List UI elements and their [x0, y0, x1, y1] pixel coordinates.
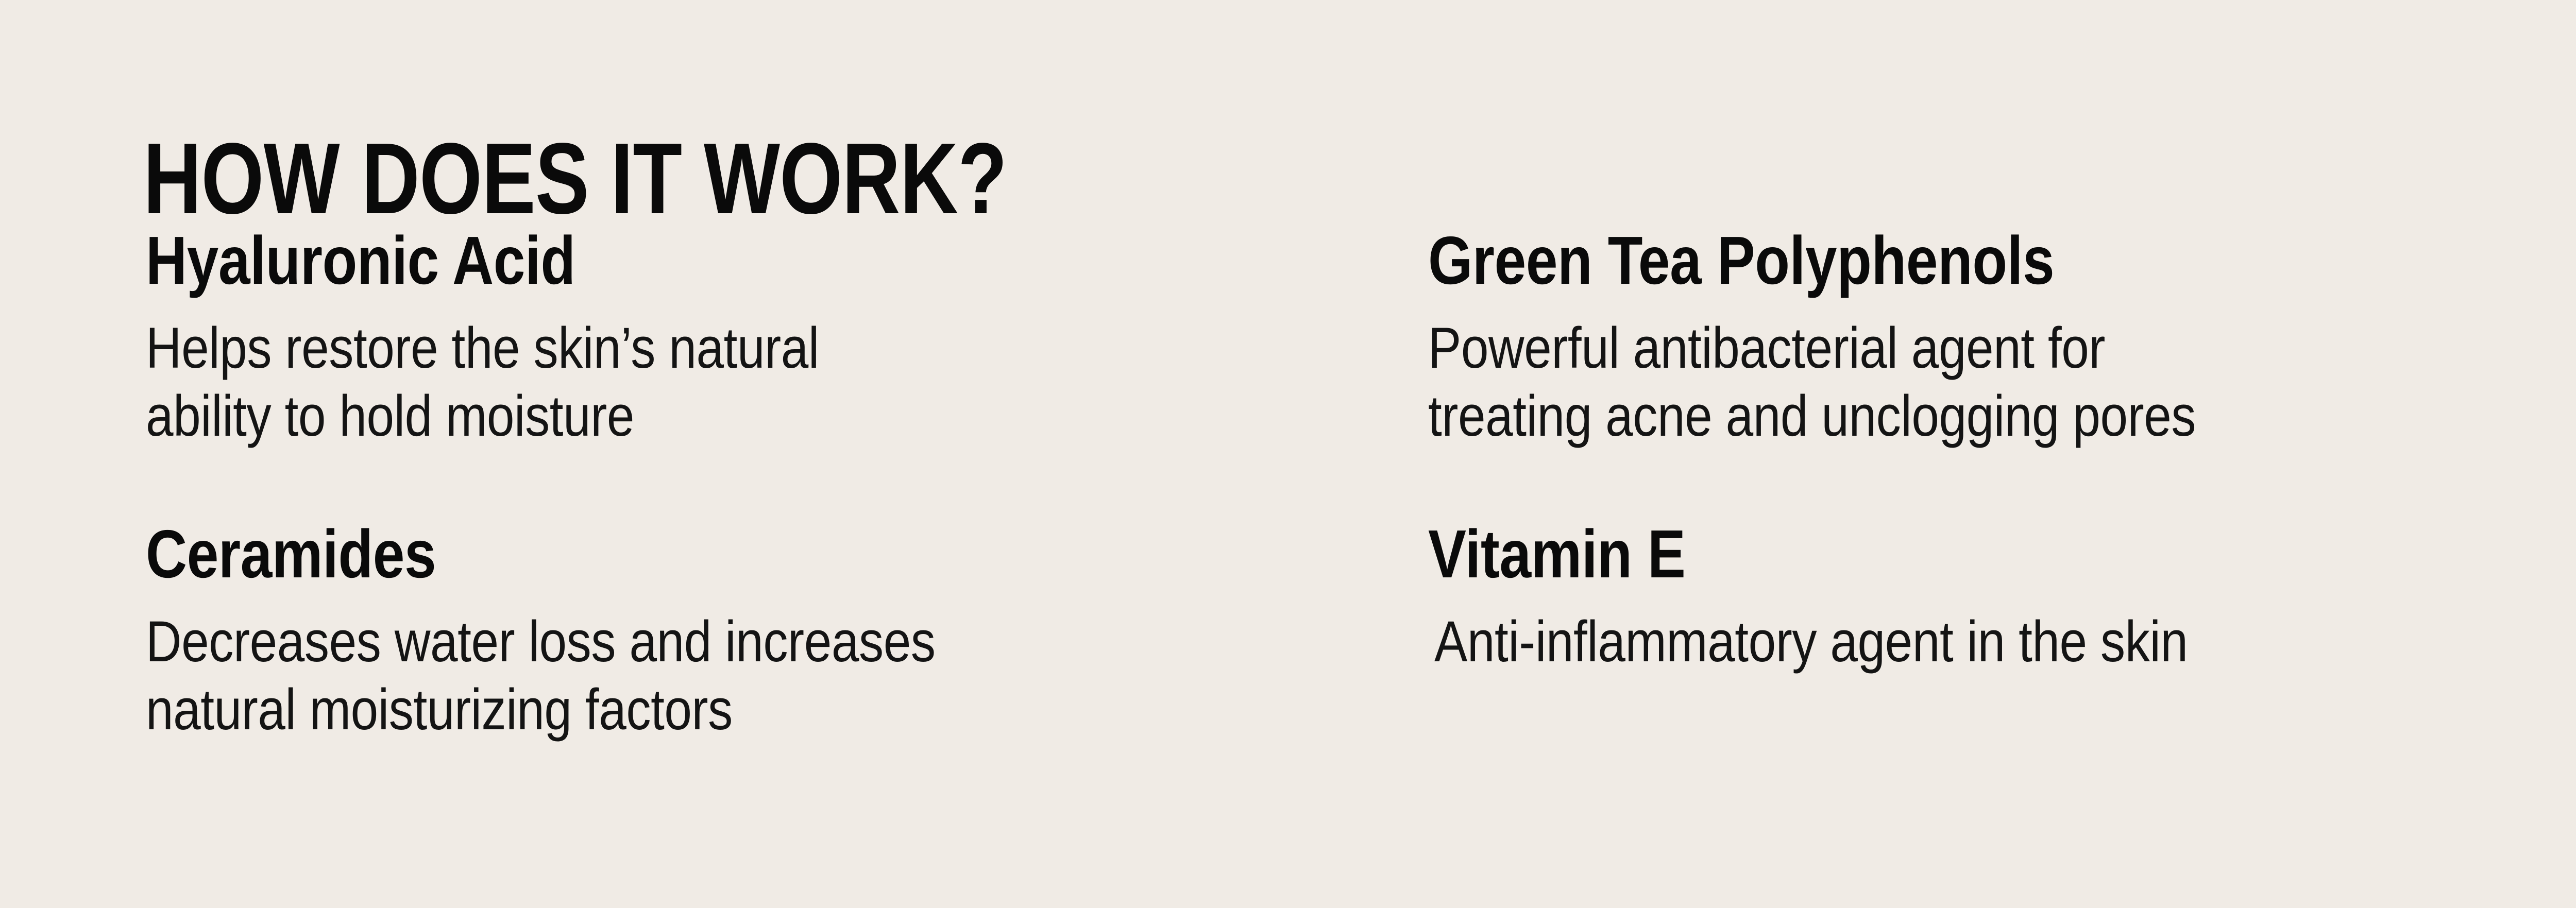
ingredient-description-line: treating acne and unclogging pores [1428, 382, 2536, 450]
ingredient-hyaluronic-acid: Hyaluronic Acid Helps restore the skin’s… [146, 227, 1434, 450]
ingredient-name: Vitamin E [1428, 520, 2510, 588]
ingredient-description-line: natural moisturizing factors [146, 676, 1253, 744]
ingredient-description: Powerful antibacterial agent for treatin… [1428, 295, 2536, 450]
ingredient-description: Anti-inflammatory agent in the skin [1428, 588, 2536, 676]
ingredient-description-line: Helps restore the skin’s natural [146, 314, 1253, 382]
ingredient-description: Helps restore the skin’s natural ability… [146, 295, 1253, 450]
page-title: HOW DOES IT WORK? [143, 128, 1007, 229]
ingredient-description: Decreases water loss and increases natur… [146, 588, 1253, 744]
how-does-it-work-panel: HOW DOES IT WORK? Hyaluronic Acid Helps … [0, 0, 2576, 908]
ingredient-name: Green Tea Polyphenols [1428, 227, 2510, 295]
ingredient-description-line: Decreases water loss and increases [146, 608, 1253, 676]
ingredients-column-right: Green Tea Polyphenols Powerful antibacte… [1428, 227, 2576, 824]
ingredient-description-line: Anti-inflammatory agent in the skin [1434, 608, 2536, 676]
ingredients-grid: Hyaluronic Acid Helps restore the skin’s… [0, 227, 2576, 824]
ingredient-ceramides: Ceramides Decreases water loss and incre… [146, 520, 1434, 744]
ingredient-description-line: ability to hold moisture [146, 382, 1253, 450]
ingredient-name: Ceramides [146, 520, 1228, 588]
ingredient-description-line: Powerful antibacterial agent for [1428, 314, 2536, 382]
ingredients-column-left: Hyaluronic Acid Helps restore the skin’s… [146, 227, 1434, 824]
ingredient-vitamin-e: Vitamin E Anti-inflammatory agent in the… [1428, 520, 2576, 676]
ingredient-name: Hyaluronic Acid [146, 227, 1228, 295]
ingredient-green-tea-polyphenols: Green Tea Polyphenols Powerful antibacte… [1428, 227, 2576, 450]
